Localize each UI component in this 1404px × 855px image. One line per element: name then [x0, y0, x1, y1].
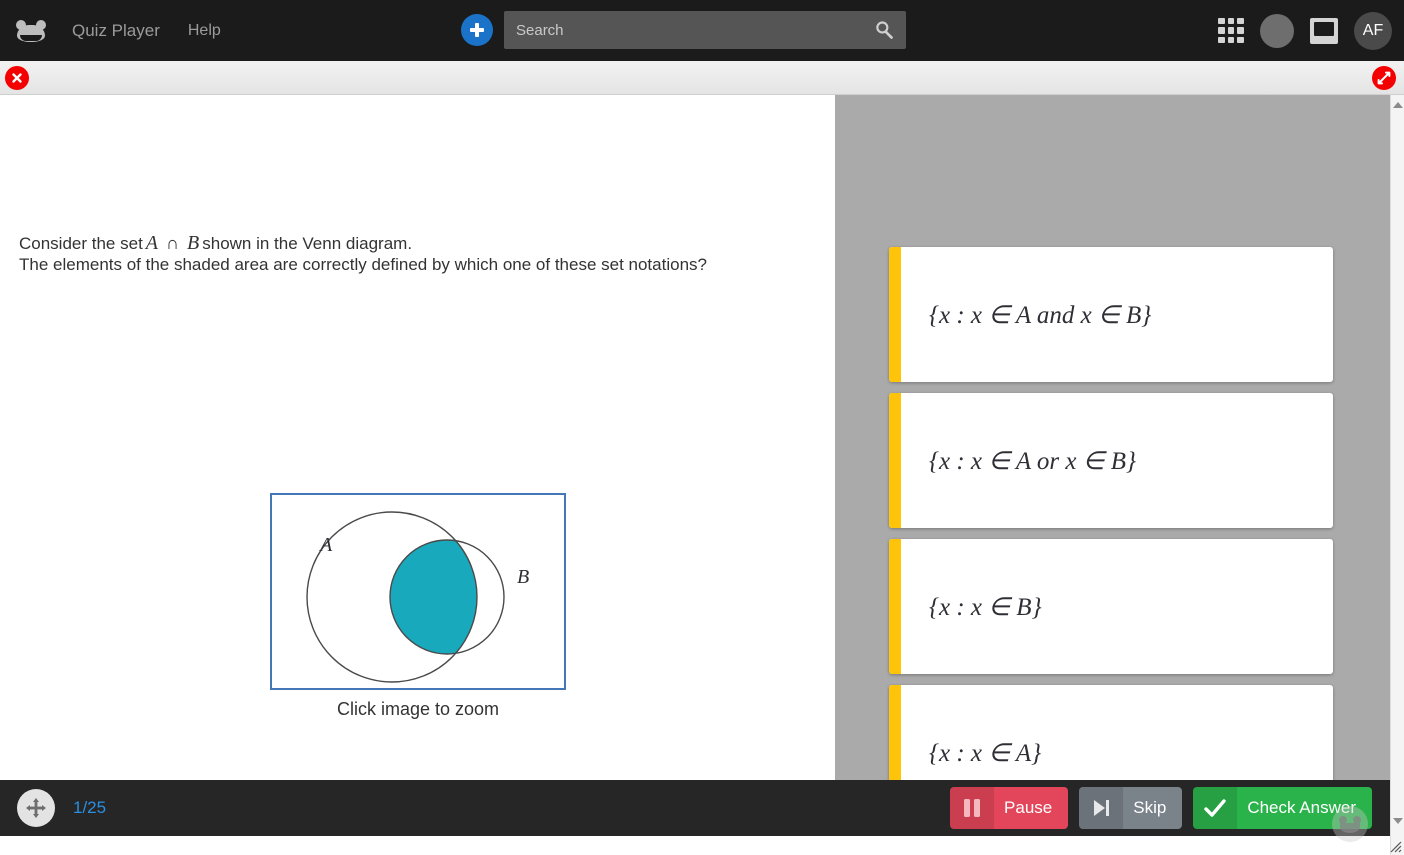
answers-pane: {x : x ∈ A and x ∈ B} {x : x ∈ A or x ∈ …: [835, 95, 1390, 780]
answer-option-1-text: {x : x ∈ A and x ∈ B}: [929, 300, 1151, 330]
question-text: Consider the setA∩Bshown in the Venn dia…: [19, 233, 779, 275]
avatar[interactable]: AF: [1354, 12, 1392, 50]
footer-button-group: Pause Skip Check Answer: [950, 787, 1372, 829]
check-icon: [1193, 787, 1237, 829]
venn-label-a: A: [318, 534, 333, 556]
scroll-down-arrow-icon[interactable]: [1391, 813, 1404, 829]
search-input[interactable]: Search: [504, 11, 906, 49]
answer-option-4[interactable]: {x : x ∈ A}: [889, 685, 1333, 780]
search-icon[interactable]: [874, 20, 894, 40]
search-area: Search: [461, 11, 906, 49]
answer-option-1[interactable]: {x : x ∈ A and x ∈ B}: [889, 247, 1333, 382]
answer-accent-bar: [889, 247, 901, 382]
resize-grip-glyph: [1388, 839, 1403, 854]
venn-diagram-svg[interactable]: A B: [272, 495, 564, 688]
modal-chrome-bar: [0, 61, 1404, 95]
app-title-link[interactable]: Quiz Player: [72, 21, 160, 41]
search-placeholder: Search: [516, 22, 564, 39]
move-arrows-glyph: [25, 797, 47, 819]
answer-accent-bar: [889, 393, 901, 528]
question-line2: The elements of the shaded area are corr…: [19, 255, 707, 274]
apps-grid-icon[interactable]: [1218, 18, 1244, 44]
venn-label-b: B: [517, 566, 529, 588]
skip-button[interactable]: Skip: [1079, 787, 1182, 829]
venn-diagram-box[interactable]: A B: [270, 493, 566, 690]
skip-glyph: [1091, 798, 1111, 818]
answer-option-3[interactable]: {x : x ∈ B}: [889, 539, 1333, 674]
close-icon[interactable]: [5, 66, 29, 90]
question-operator: ∩: [161, 233, 184, 253]
inbox-icon[interactable]: [1310, 18, 1338, 44]
figure-caption[interactable]: Click image to zoom: [270, 699, 566, 720]
answer-option-2-text: {x : x ∈ A or x ∈ B}: [929, 446, 1136, 476]
pause-icon: [950, 787, 994, 829]
question-pane: Consider the setA∩Bshown in the Venn dia…: [0, 95, 835, 780]
pause-glyph: [963, 798, 981, 818]
move-arrows-icon[interactable]: [17, 789, 55, 827]
question-line1-suffix: shown in the Venn diagram.: [202, 234, 412, 253]
answer-option-2[interactable]: {x : x ∈ A or x ∈ B}: [889, 393, 1333, 528]
frog-watermark-glyph: [1338, 815, 1362, 833]
help-link[interactable]: Help: [188, 22, 221, 40]
venn-figure[interactable]: A B Click image to zoom: [270, 493, 566, 720]
frog-logo-watermark: [1332, 806, 1368, 842]
skip-button-label: Skip: [1123, 798, 1182, 818]
topbar-right-icons: AF: [1218, 0, 1392, 61]
skip-next-icon: [1079, 787, 1123, 829]
question-set-a: A: [143, 232, 161, 254]
scroll-up-glyph: [1393, 102, 1403, 108]
pause-button[interactable]: Pause: [950, 787, 1068, 829]
expand-glyph: [1377, 71, 1391, 85]
answer-option-4-text: {x : x ∈ A}: [929, 738, 1041, 768]
question-set-b: B: [184, 232, 202, 254]
answer-accent-bar: [889, 685, 901, 780]
check-glyph: [1204, 798, 1226, 818]
vertical-scrollbar[interactable]: [1390, 95, 1404, 855]
top-navigation-bar: Quiz Player Help Search AF: [0, 0, 1404, 61]
window-resize-grip[interactable]: [1388, 839, 1403, 854]
scroll-up-arrow-icon[interactable]: [1391, 97, 1404, 113]
frog-logo[interactable]: [14, 19, 48, 43]
pause-button-label: Pause: [994, 798, 1068, 818]
quiz-player-app: Quiz Player Help Search AF: [0, 0, 1404, 855]
add-button[interactable]: [461, 14, 493, 46]
scroll-down-glyph: [1393, 818, 1403, 824]
status-circle-icon[interactable]: [1260, 14, 1294, 48]
answer-option-3-text: {x : x ∈ B}: [929, 592, 1042, 622]
frog-logo-mouth: [20, 35, 42, 41]
expand-icon[interactable]: [1372, 66, 1396, 90]
close-glyph: [11, 72, 23, 84]
answer-accent-bar: [889, 539, 901, 674]
quiz-footer-bar: 1/25 Pause Skip: [0, 780, 1390, 836]
question-line1-prefix: Consider the set: [19, 234, 143, 253]
progress-counter: 1/25: [73, 798, 106, 818]
quiz-stage: Consider the setA∩Bshown in the Venn dia…: [0, 95, 1390, 780]
